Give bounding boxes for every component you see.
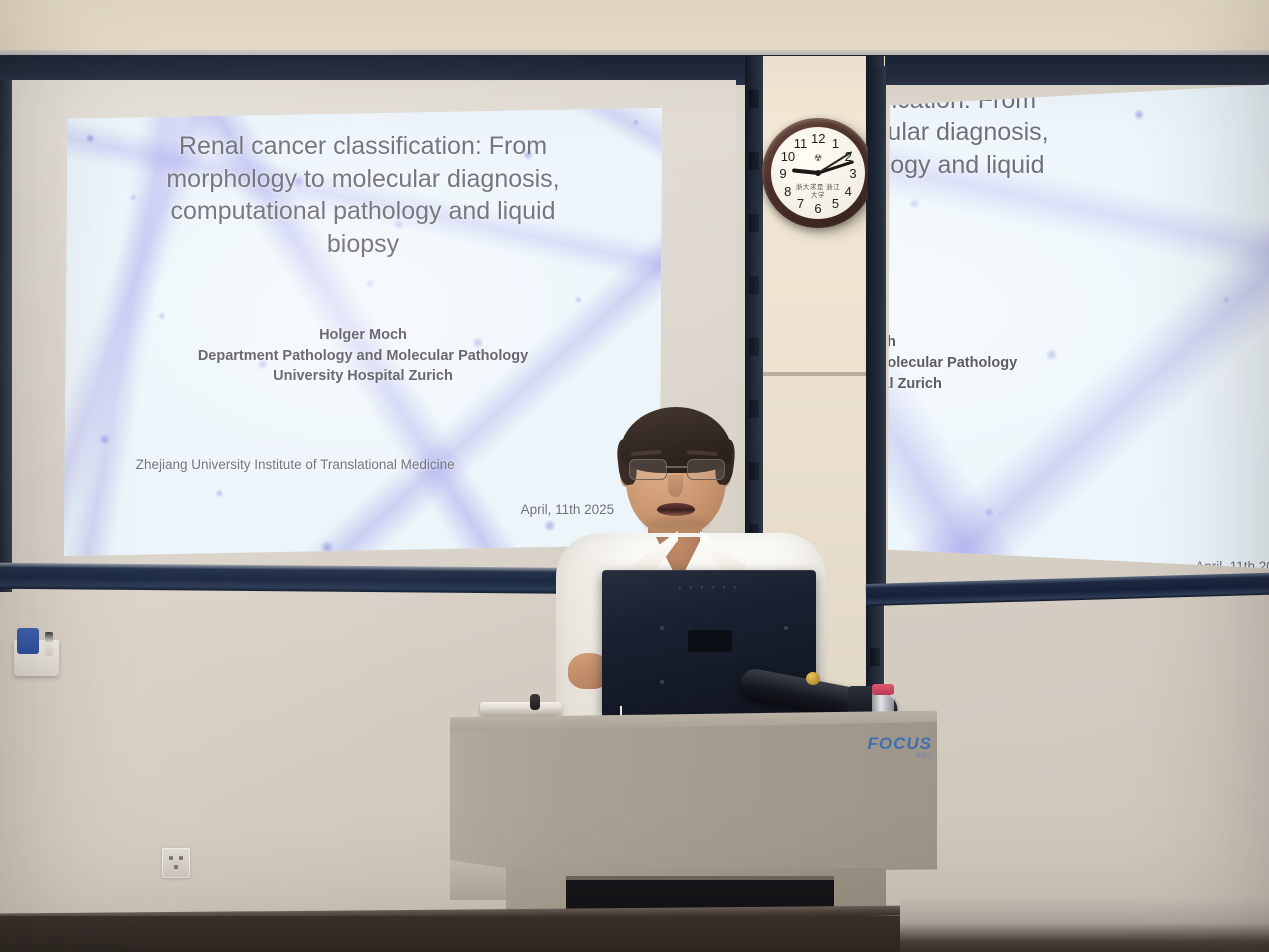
slide-author-block-right: Holger Moch Department Pathology and Mol… [884,332,1269,394]
clock-numeral-6: 6 [811,202,825,215]
presenter-nose [668,475,683,497]
clock-numeral-8: 8 [781,185,795,198]
slide-author-block: Holger Moch Department Pathology and Mol… [100,325,626,387]
slide-venue-right: Zhejiang University Institute of Transla… [884,501,1269,516]
glasses-lens-right [687,459,725,480]
monitor-vesa-mount [688,630,732,652]
clock-numeral-11: 11 [794,137,808,150]
slide-author-name-right: Holger Moch [884,332,1269,353]
desk-microphone [480,702,562,715]
outlet-slot-ground [174,865,178,869]
clock-brand-text: 浙大求是 浙江大学 [795,184,842,200]
clock-numeral-4: 4 [841,185,855,198]
rail-bracket-left [749,276,759,294]
clock-numeral-12: 12 [811,132,825,145]
clock-numeral-10: 10 [781,150,795,163]
clock-numeral-9: 9 [776,167,790,180]
right-screen-left-rail [868,66,886,594]
slide-institution: University Hospital Zurich [100,366,626,387]
microphone-capsule [530,694,540,710]
podium-brand-logo: FOCUS [822,734,932,754]
presenter-mouth [657,503,695,516]
clock-face: 121234567891011 ☢ 浙大求是 浙江大学 [771,127,865,219]
monitor-screw-topleft [660,626,664,630]
rail-bracket-right [870,648,880,666]
slide-institution-right: University Hospital Zurich [884,374,1269,395]
slide-author-name: Holger Moch [100,325,626,346]
clock-numeral-1: 1 [829,137,843,150]
clock-logo-icon: ☢ [814,153,822,164]
outlet-slot-right [179,856,183,860]
rail-bracket-left [749,214,759,232]
water-bottle-cap [872,684,894,695]
ceiling [0,0,1269,52]
presenter-chin-shadow [644,517,708,531]
slide-title-right: Renal cancer classification: From morpho… [884,84,1269,214]
lecture-hall-photo: Renal cancer classification: From morpho… [0,0,1269,952]
rail-bracket-left [749,338,759,356]
glasses-lens-left [629,459,667,480]
slide-department-right: Department Pathology and Molecular Patho… [884,353,1269,374]
slide-content-right: Renal cancer classification: From morpho… [884,84,1269,569]
monitor-arm-adjust-knob[interactable] [806,672,820,685]
monitor-brand-label: • • • • • • [679,583,740,592]
slide-title: Renal cancer classification: From morpho… [106,130,620,260]
outlet-slot-left [169,856,173,860]
monitor-screw-topright [784,626,788,630]
clock-center-pin [815,170,821,176]
glasses-bridge [665,466,687,468]
right-projection-image: Renal cancer classification: From morpho… [884,84,1269,569]
podium-brand-sublabel: 演讲台 [822,752,932,759]
whiteboard-left-rail [0,80,12,592]
right-slide-crop: Renal cancer classification: From morpho… [884,84,1269,569]
slide-department: Department Pathology and Molecular Patho… [100,346,626,367]
monitor-screw-bottomleft [660,680,664,684]
whiteboard-marker [45,632,53,656]
whiteboard-eraser [17,628,39,654]
rail-bracket-left [749,152,759,170]
rail-bracket-left [749,90,759,108]
wall-clock: 121234567891011 ☢ 浙大求是 浙江大学 [762,118,874,228]
clock-numeral-3: 3 [846,167,860,180]
floor-right-section [900,900,1269,952]
wall-power-outlet[interactable] [162,848,190,878]
